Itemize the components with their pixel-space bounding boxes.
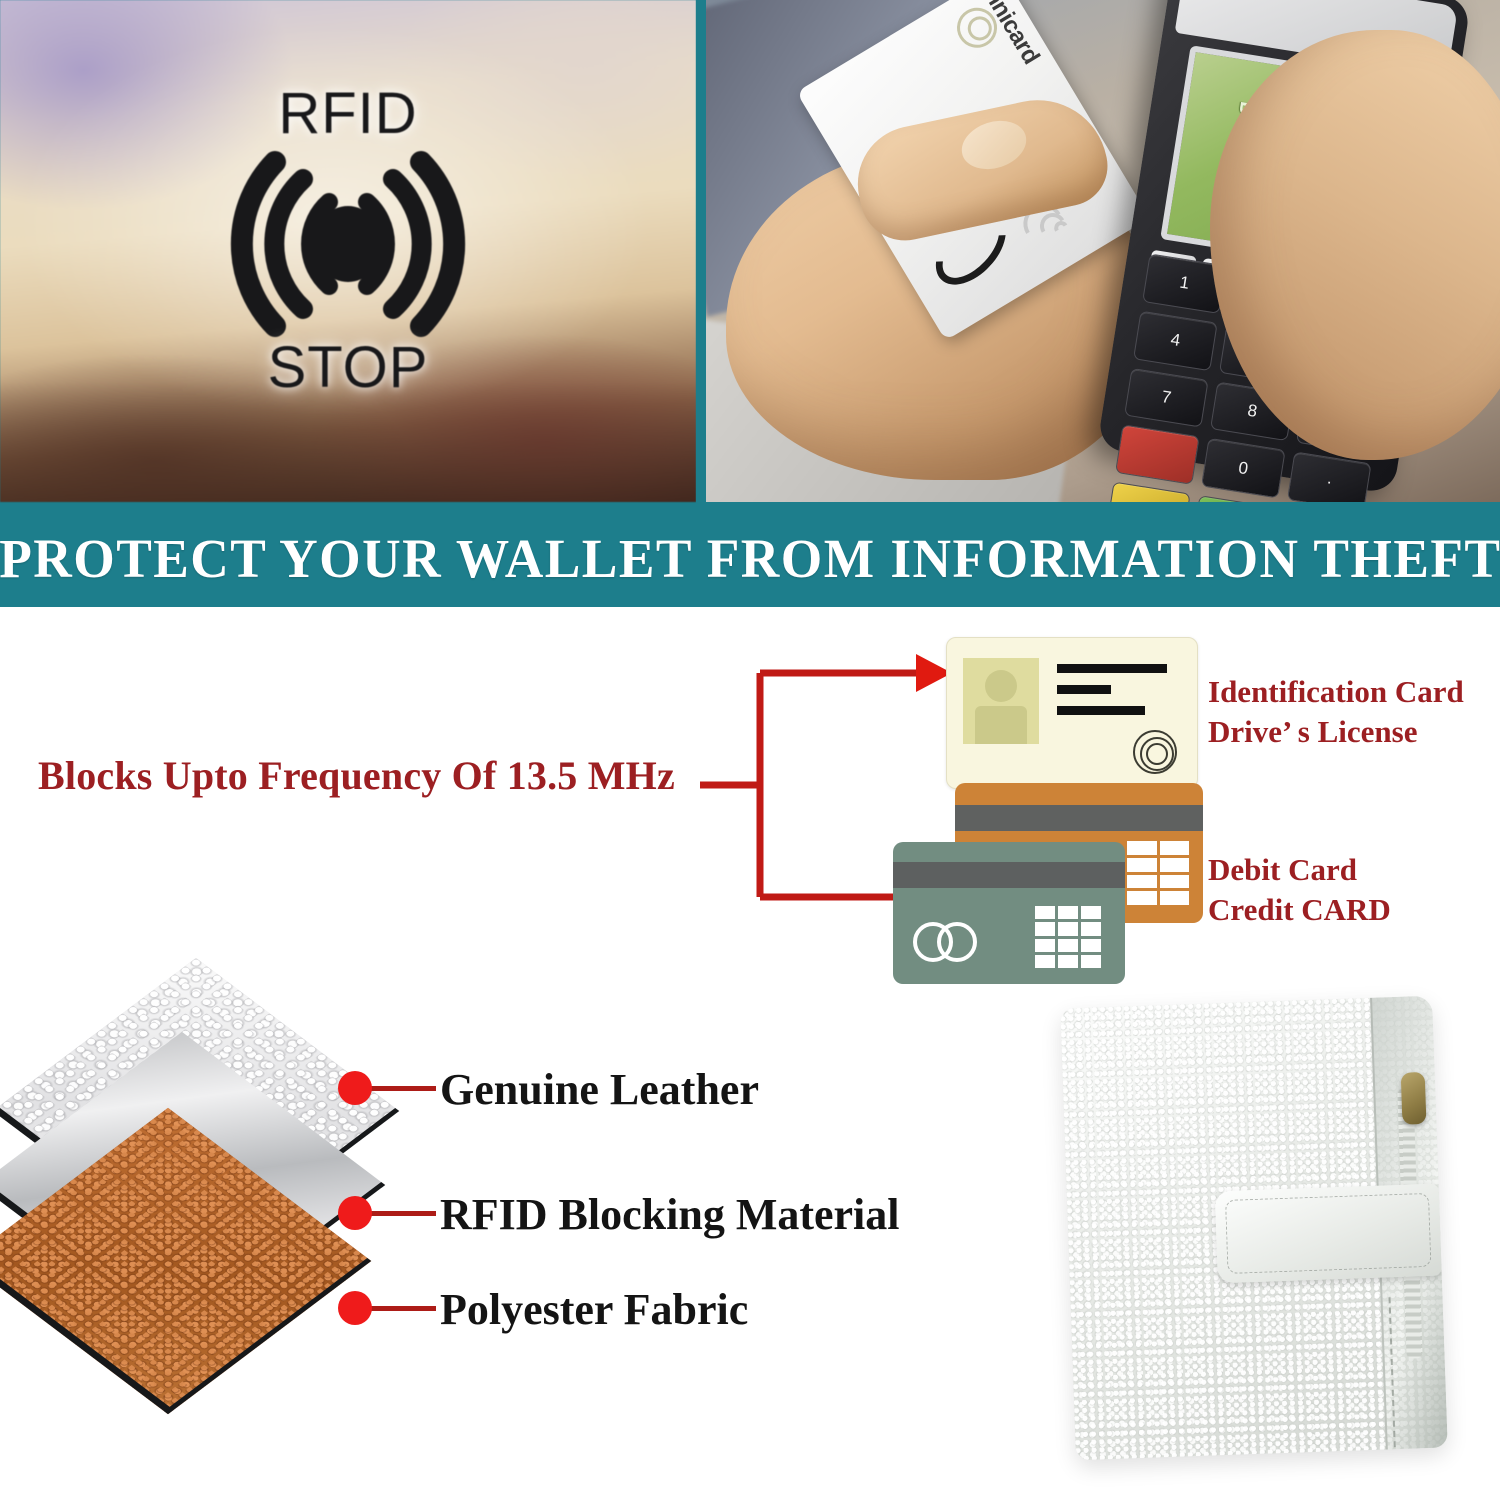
rfid-logo-top-text: RFID [183,80,513,147]
layer-leader-line [366,1211,436,1216]
magnetic-stripe [955,805,1203,831]
headline-banner: PROTECT YOUR WALLET FROM INFORMATION THE… [0,510,1500,607]
key-4: 4 [1133,310,1218,370]
id-card-label-line1: Identification Card [1208,672,1464,712]
debit-card-front-graphic [893,842,1125,984]
layer-leader-line [366,1086,436,1091]
magnetic-stripe [893,862,1125,888]
hero-left-photo: RFID STOP [0,0,696,502]
hero-photo-strip: RFID STOP omnicard [0,0,1500,510]
frequency-label: Blocks Upto Frequency Of 13.5 MHz [38,752,675,799]
wallet-product-photo [1060,996,1448,1461]
key-clear [1109,482,1191,502]
card-grid-block [1127,841,1189,905]
rfid-stop-logo: RFID STOP [183,84,513,404]
bank-card-label-line1: Debit Card [1208,850,1391,890]
layer-marker-dot [338,1291,372,1325]
id-head-shape [985,670,1017,702]
card-grid-block [1035,906,1101,968]
hero-right-photo: omnicard CARD ACCESS DENIED 1 2 3 4 [706,0,1500,502]
id-card-label: Identification Card Drive’ s License [1208,672,1464,752]
key-cancel [1115,425,1200,485]
key-7: 7 [1124,368,1209,428]
layer-leader-line [366,1306,436,1311]
identification-card-graphic [946,637,1198,789]
wallet-snap-strap [1215,1184,1442,1284]
id-body-shape [975,706,1027,744]
headline-text: PROTECT YOUR WALLET FROM INFORMATION THE… [0,527,1500,590]
id-text-line [1057,706,1145,715]
panel-divider [696,0,706,510]
id-photo-placeholder [963,658,1039,744]
wallet-zipper-pull [1401,1072,1427,1125]
bank-card-label: Debit Card Credit CARD [1208,850,1391,930]
material-layers-diagram [12,985,432,1415]
layer-label-genuine-leather: Genuine Leather [440,1064,759,1115]
bank-card-label-line2: Credit CARD [1208,890,1391,930]
card-network-logo-icon [913,922,985,962]
id-text-line [1057,685,1111,694]
layer-marker-dot [338,1071,372,1105]
rfid-logo-bottom-text: STOP [183,334,513,401]
infographic-page: RFID STOP omnicard [0,0,1500,1490]
id-card-label-line2: Drive’ s License [1208,712,1464,752]
key-0: 0 [1201,438,1286,498]
id-text-line [1057,664,1167,673]
layer-label-polyester-fabric: Polyester Fabric [440,1284,748,1335]
layer-marker-dot [338,1196,372,1230]
rfid-chip-icon [1133,730,1177,774]
layer-label-rfid-blocking-material: RFID Blocking Material [440,1189,900,1240]
